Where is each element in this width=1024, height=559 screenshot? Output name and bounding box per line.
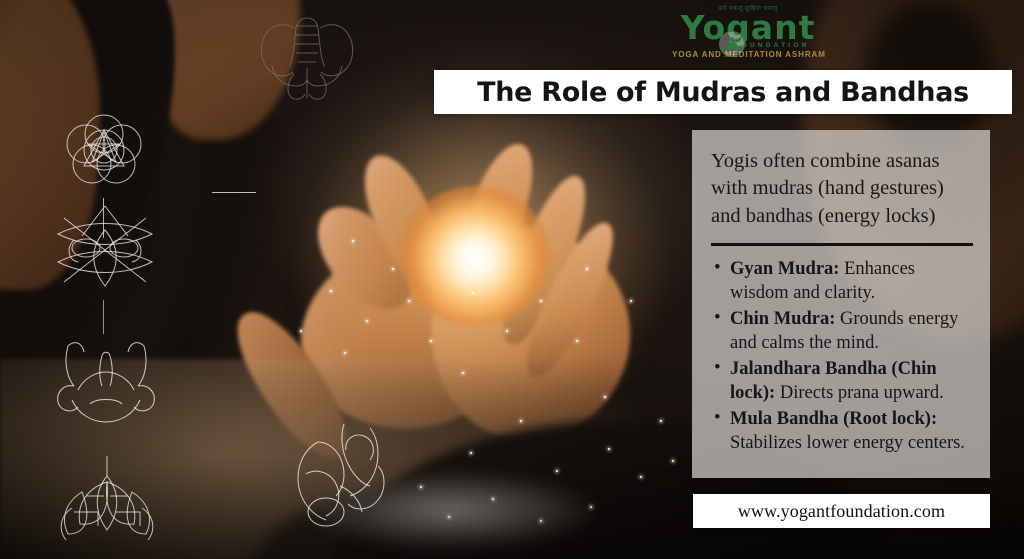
list-item: Jalandhara Bandha (Chin lock): Directs p… — [711, 357, 973, 405]
website-footer-bar[interactable]: www.yogantfoundation.com — [693, 494, 990, 528]
yogant-logo[interactable]: सर्वे भवन्तु सुखिनः भवन्तु Yogant FOUNDA… — [672, 6, 824, 68]
title-bar: The Role of Mudras and Bandhas — [434, 70, 1012, 114]
lotus-mandala-icon — [52, 452, 162, 552]
list-item: Chin Mudra: Grounds energy and calms the… — [711, 307, 973, 355]
list-item-term: Mula Bandha (Root lock): — [730, 409, 937, 429]
list-item-term: Gyan Mudra: — [730, 259, 839, 279]
list-item-desc: Stabilizes lower energy centers. — [730, 433, 965, 453]
website-url: www.yogantfoundation.com — [738, 501, 945, 522]
page-title: The Role of Mudras and Bandhas — [477, 77, 969, 108]
list-item-term: Chin Mudra: — [730, 309, 835, 329]
meditating-figure-seal-icon — [719, 31, 745, 57]
list-item: Gyan Mudra: Enhances wisdom and clarity. — [711, 257, 973, 305]
connector-line-horizontal — [212, 192, 256, 193]
content-card: Yogis often combine asanas with mudras (… — [692, 130, 990, 478]
poster-canvas: सर्वे भवन्तु सुखिनः भवन्तु Yogant FOUNDA… — [0, 0, 1024, 559]
connector-line-vertical-mid — [103, 300, 104, 334]
card-divider — [711, 243, 973, 246]
double-lens-mandala-icon — [52, 200, 158, 300]
list-item-desc: Directs prana upward. — [775, 383, 944, 403]
vertebra-anatomy-line-art — [50, 332, 162, 424]
star-mandala-chakra-icon — [58, 106, 150, 198]
pelvis-anatomy-line-art — [250, 8, 365, 103]
hip-anatomy-line-art — [282, 420, 408, 535]
list-item: Mula Bandha (Root lock): Stabilizes lowe… — [711, 407, 973, 455]
intro-paragraph: Yogis often combine asanas with mudras (… — [711, 148, 973, 230]
logo-tagline: YOGA AND MEDITATION ASHRAM — [672, 50, 824, 59]
logo-wordmark: Yogant — [681, 13, 816, 43]
mudra-bandha-list: Gyan Mudra: Enhances wisdom and clarity.… — [711, 257, 973, 455]
